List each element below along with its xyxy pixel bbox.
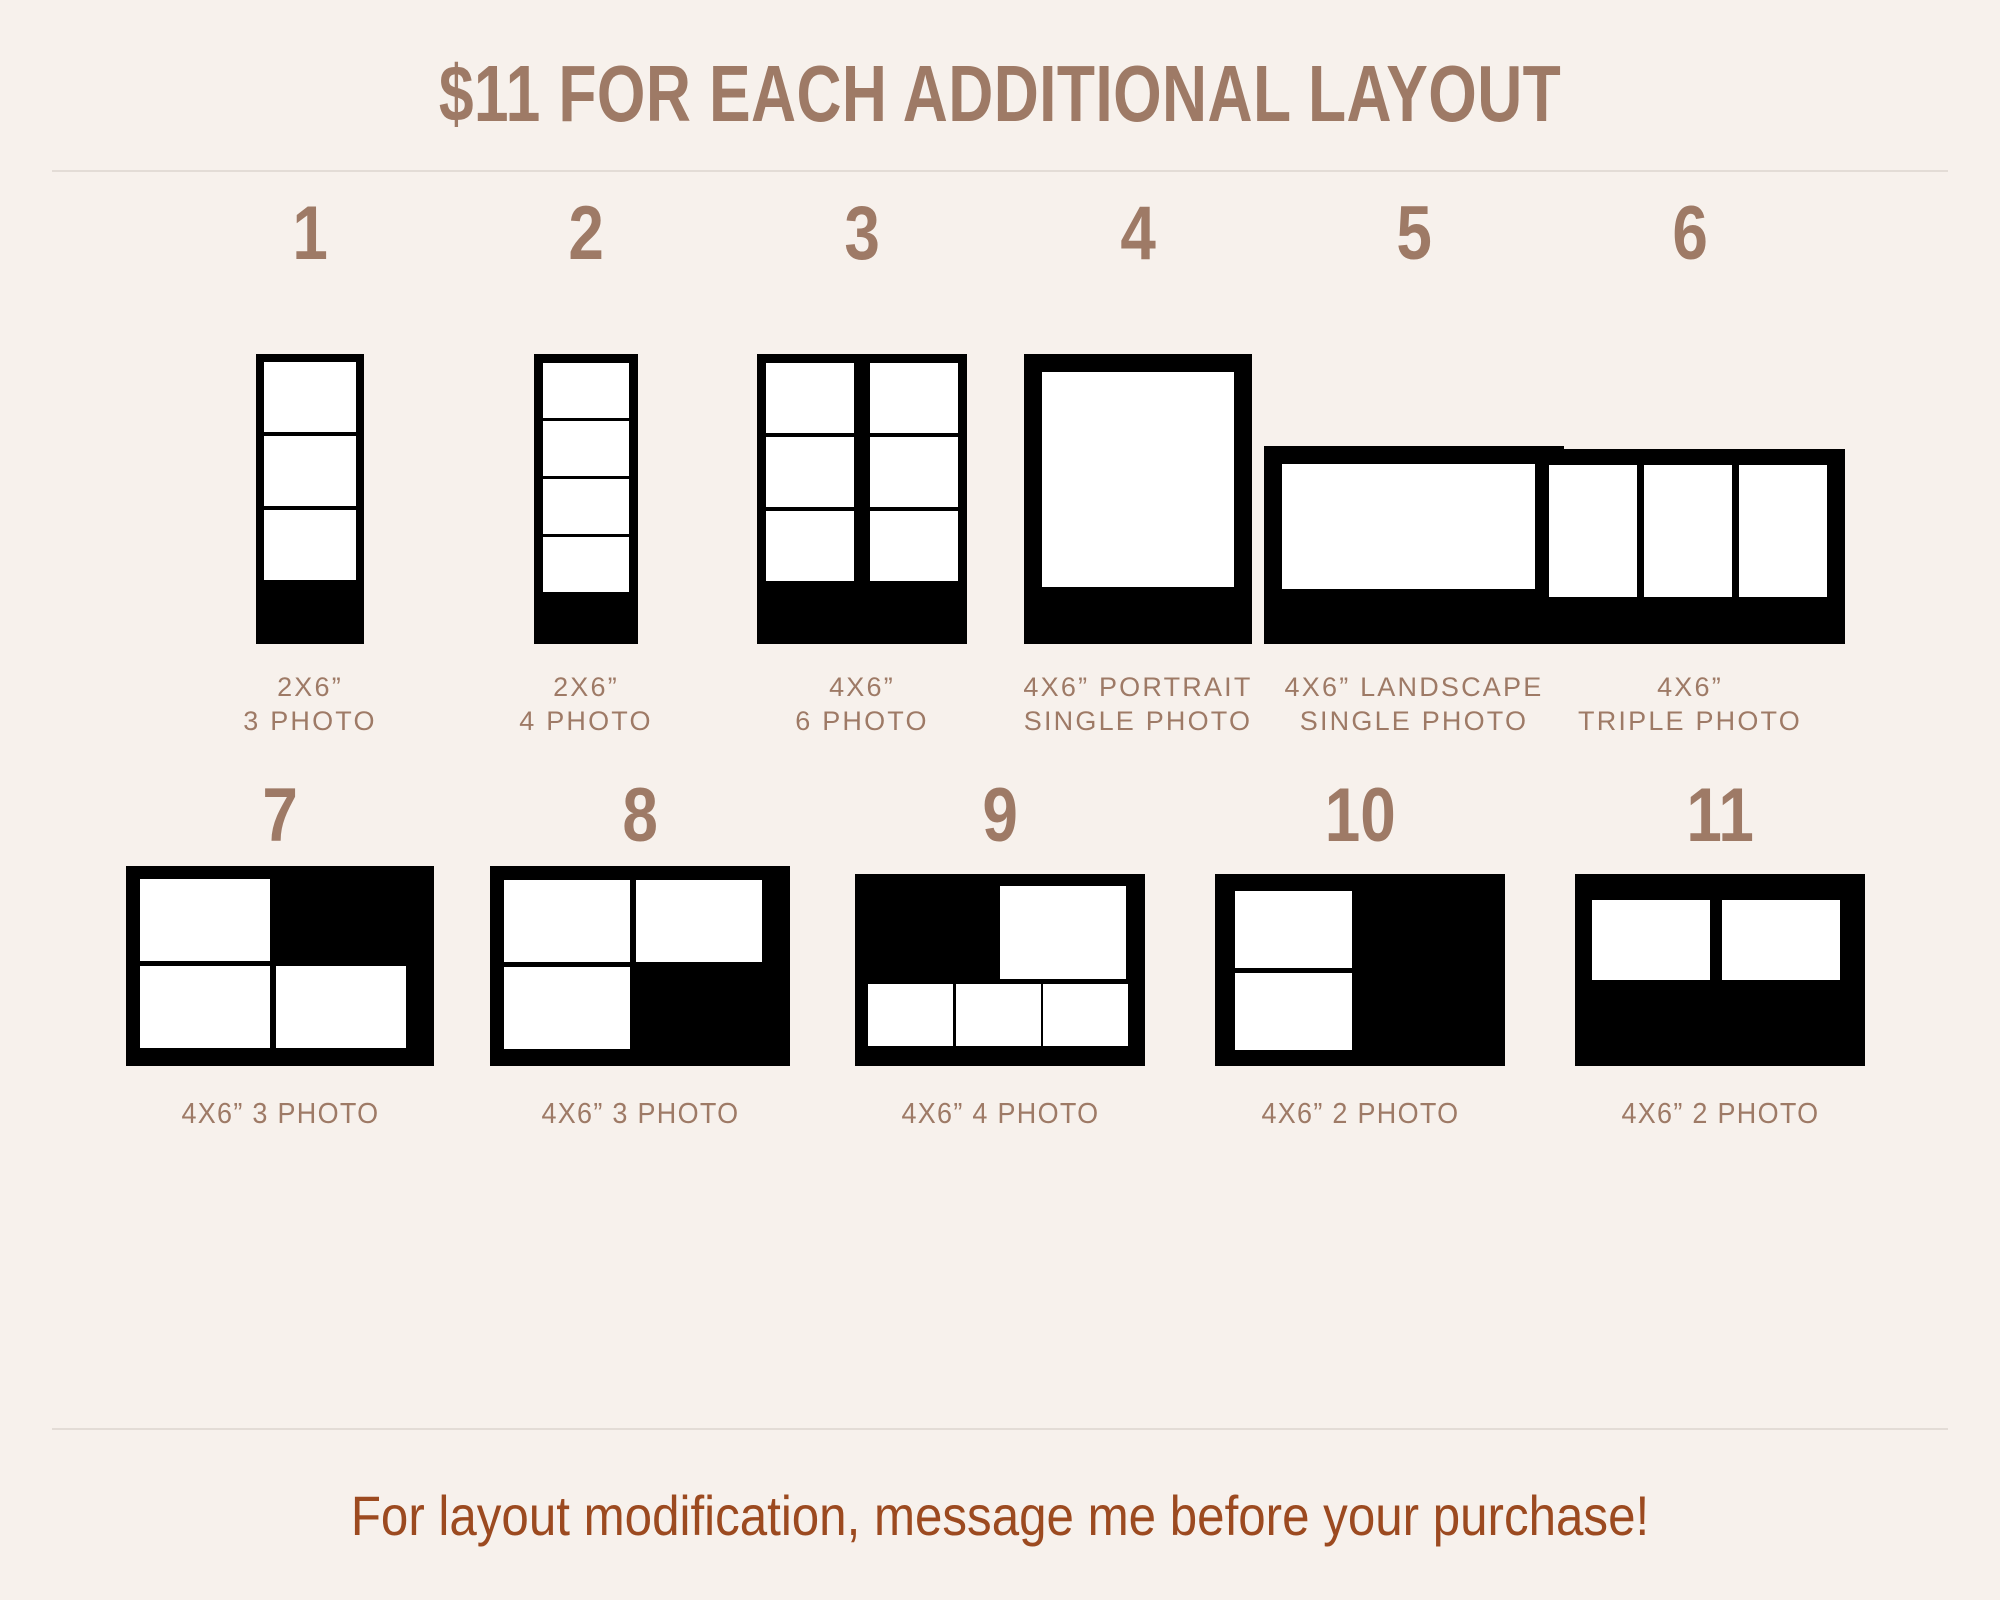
frame-4x6-4photo [855,874,1145,1066]
photo-slot [276,966,406,1048]
photo-slot [870,437,958,507]
photo-slot [1000,886,1126,979]
top-divider [52,170,1948,172]
photo-slot [636,880,762,962]
frame-4x6-3photo-a [126,866,434,1066]
layout-option-4[interactable]: 4 4X6” PORTRAIT SINGLE PHOTO [1000,198,1276,738]
layout-caption: 4X6” 2 PHOTO [1261,1096,1459,1133]
photo-slot [1043,984,1128,1046]
photo-slot [543,421,629,476]
footer-message: For layout modification, message me befo… [120,1488,1880,1544]
layout-preview [1215,866,1505,1066]
photo-slot [1592,900,1710,980]
layout-number: 3 [844,198,880,270]
layout-caption: 4X6” LANDSCAPE SINGLE PHOTO [1285,670,1544,738]
layout-number: 11 [1686,780,1753,852]
photo-slot [766,511,854,581]
layout-preview [1264,284,1564,644]
layout-number: 2 [568,198,604,270]
layout-caption: 4X6” 3 PHOTO [541,1096,739,1133]
layout-row-2: 7 4X6” 3 PHOTO 8 4X6” 3 PHOTO [0,780,2000,1133]
layout-option-11[interactable]: 11 4X6” 2 PHOTO [1540,780,1900,1133]
photo-slot [140,966,270,1048]
photo-slot [1739,465,1827,597]
photo-slot [1644,465,1732,597]
photo-slot [264,362,356,432]
photo-slot [543,479,629,534]
frame-4x6-portrait-single [1024,354,1252,644]
layout-caption: 4X6” 6 PHOTO [795,670,928,738]
strip-2x6-3photo [256,354,364,644]
layout-number: 6 [1672,198,1708,270]
layout-preview [490,866,790,1066]
photo-slot [870,511,958,581]
layout-caption: 4X6” 2 PHOTO [1621,1096,1819,1133]
photo-slot [956,984,1041,1046]
layout-preview [757,284,967,644]
bottom-divider [52,1428,1948,1430]
layout-number: 4 [1120,198,1156,270]
photo-slot [1235,891,1352,968]
frame-4x6-2photo-side [1575,874,1865,1066]
photo-slot [543,363,629,418]
grid-4x6-6photo [757,354,967,644]
layout-caption: 4X6” 4 PHOTO [901,1096,1099,1133]
layout-option-9[interactable]: 9 4X6” 4 PHOTO [820,780,1180,1133]
photo-slot [766,363,854,433]
photo-slot [140,879,270,961]
layout-preview [855,866,1145,1066]
photo-slot [1042,372,1234,587]
photo-slot [1282,464,1546,589]
layout-option-1[interactable]: 1 2X6” 3 PHOTO [172,198,448,738]
frame-4x6-triple [1535,449,1845,644]
layout-number: 7 [262,780,298,852]
photo-slot [1235,973,1352,1050]
layout-caption: 2X6” 4 PHOTO [519,670,652,738]
layout-preview [1024,284,1252,644]
layout-option-8[interactable]: 8 4X6” 3 PHOTO [460,780,820,1133]
layout-caption: 4X6” PORTRAIT SINGLE PHOTO [1023,670,1252,738]
layout-preview [256,284,364,644]
layout-option-2[interactable]: 2 2X6” 4 PHOTO [448,198,724,738]
footer: For layout modification, message me befo… [0,1428,2000,1600]
photo-slot [504,967,630,1049]
layout-caption: 4X6” TRIPLE PHOTO [1578,670,1802,738]
layout-number: 10 [1324,780,1395,852]
photo-slot [1549,465,1637,597]
header: $11 FOR EACH ADDITIONAL LAYOUT [0,0,2000,134]
layout-number: 1 [292,198,328,270]
layout-number: 5 [1396,198,1432,270]
photo-slot [504,880,630,962]
photo-slot [264,436,356,506]
layout-option-7[interactable]: 7 4X6” 3 PHOTO [100,780,460,1133]
photo-slot [868,984,953,1046]
layout-preview [1575,866,1865,1066]
layout-price-sheet: $11 FOR EACH ADDITIONAL LAYOUT 1 2X6” 3 … [0,0,2000,1600]
frame-4x6-landscape-single [1264,446,1564,644]
layout-caption: 2X6” 3 PHOTO [243,670,376,738]
photo-slot [543,537,629,592]
page-title: $11 FOR EACH ADDITIONAL LAYOUT [220,54,1780,134]
layout-option-10[interactable]: 10 4X6” 2 PHOTO [1180,780,1540,1133]
frame-4x6-2photo-stacked [1215,874,1505,1066]
layout-preview [534,284,638,644]
photo-slot [870,363,958,433]
layout-number: 9 [982,780,1018,852]
layout-option-6[interactable]: 6 4X6” TRIPLE PHOTO [1552,198,1828,738]
strip-2x6-4photo [534,354,638,644]
layout-row-1: 1 2X6” 3 PHOTO 2 2X6” 4 P [0,198,2000,738]
layout-caption: 4X6” 3 PHOTO [181,1096,379,1133]
layout-option-5[interactable]: 5 4X6” LANDSCAPE SINGLE PHOTO [1276,198,1552,738]
layout-preview [1535,284,1845,644]
layout-option-3[interactable]: 3 4X6” 6 PHOTO [724,198,1000,738]
photo-slot [1722,900,1840,980]
layout-preview [126,866,434,1066]
frame-4x6-3photo-b [490,866,790,1066]
photo-slot [766,437,854,507]
photo-slot [264,510,356,580]
layout-number: 8 [622,780,658,852]
